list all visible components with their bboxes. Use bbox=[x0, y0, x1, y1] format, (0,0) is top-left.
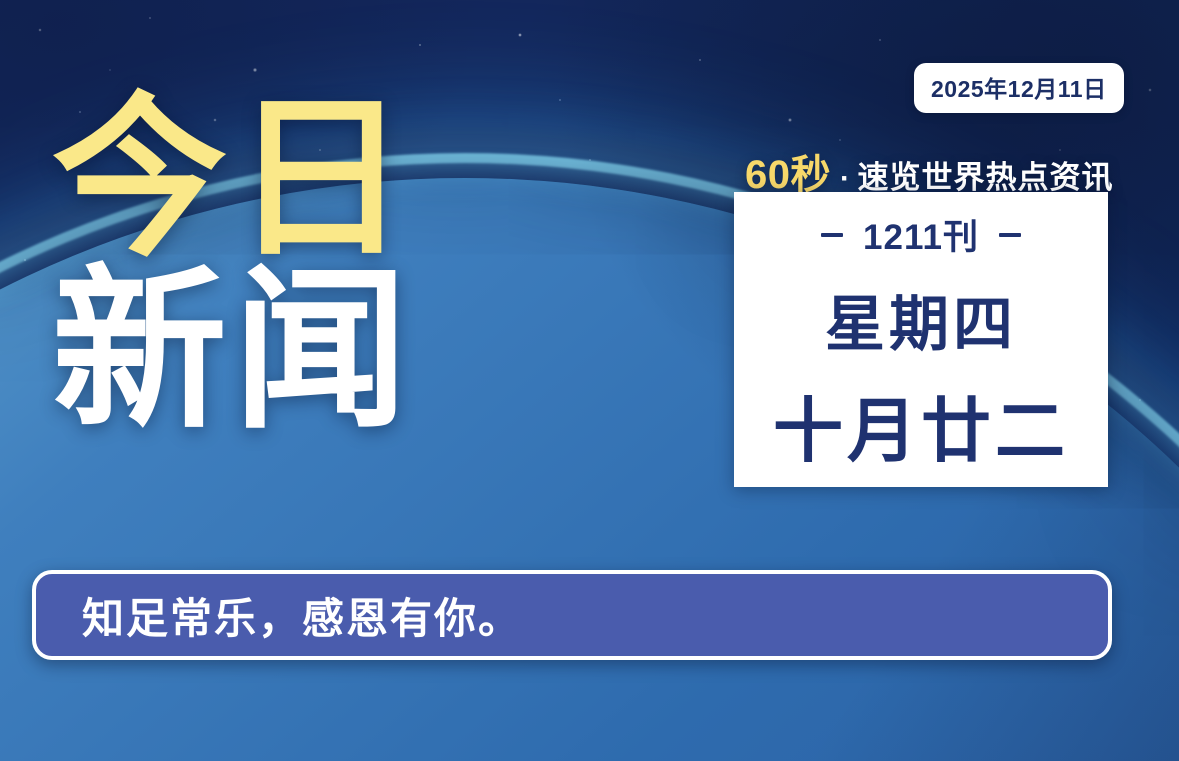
motto-text: 知足常乐，感恩有你。 bbox=[82, 585, 522, 646]
calendar-card: 1211刊 星期四 十月廿二 bbox=[734, 192, 1108, 487]
news-poster: 今日 新闻 2025年12月11日 60秒·速览世界热点资讯 1211刊 星期四… bbox=[0, 0, 1179, 761]
date-badge: 2025年12月11日 bbox=[914, 63, 1124, 113]
weekday-label: 星期四 bbox=[825, 276, 1017, 363]
tagline-description: 速览世界热点资讯 bbox=[858, 160, 1114, 195]
headline-line-2: 新闻 bbox=[52, 268, 414, 436]
dash-right-icon bbox=[999, 233, 1021, 237]
issue-row: 1211刊 bbox=[821, 209, 1021, 260]
page-title: 今日 新闻 bbox=[52, 96, 414, 436]
tagline-seconds: 60秒 bbox=[745, 153, 831, 197]
dash-left-icon bbox=[821, 233, 843, 237]
motto-banner: 知足常乐，感恩有你。 bbox=[32, 570, 1112, 660]
issue-label: 1211刊 bbox=[863, 209, 979, 260]
tagline-separator: · bbox=[840, 162, 851, 195]
headline-line-1: 今日 bbox=[52, 96, 414, 264]
lunar-date-label: 十月廿二 bbox=[773, 375, 1069, 476]
